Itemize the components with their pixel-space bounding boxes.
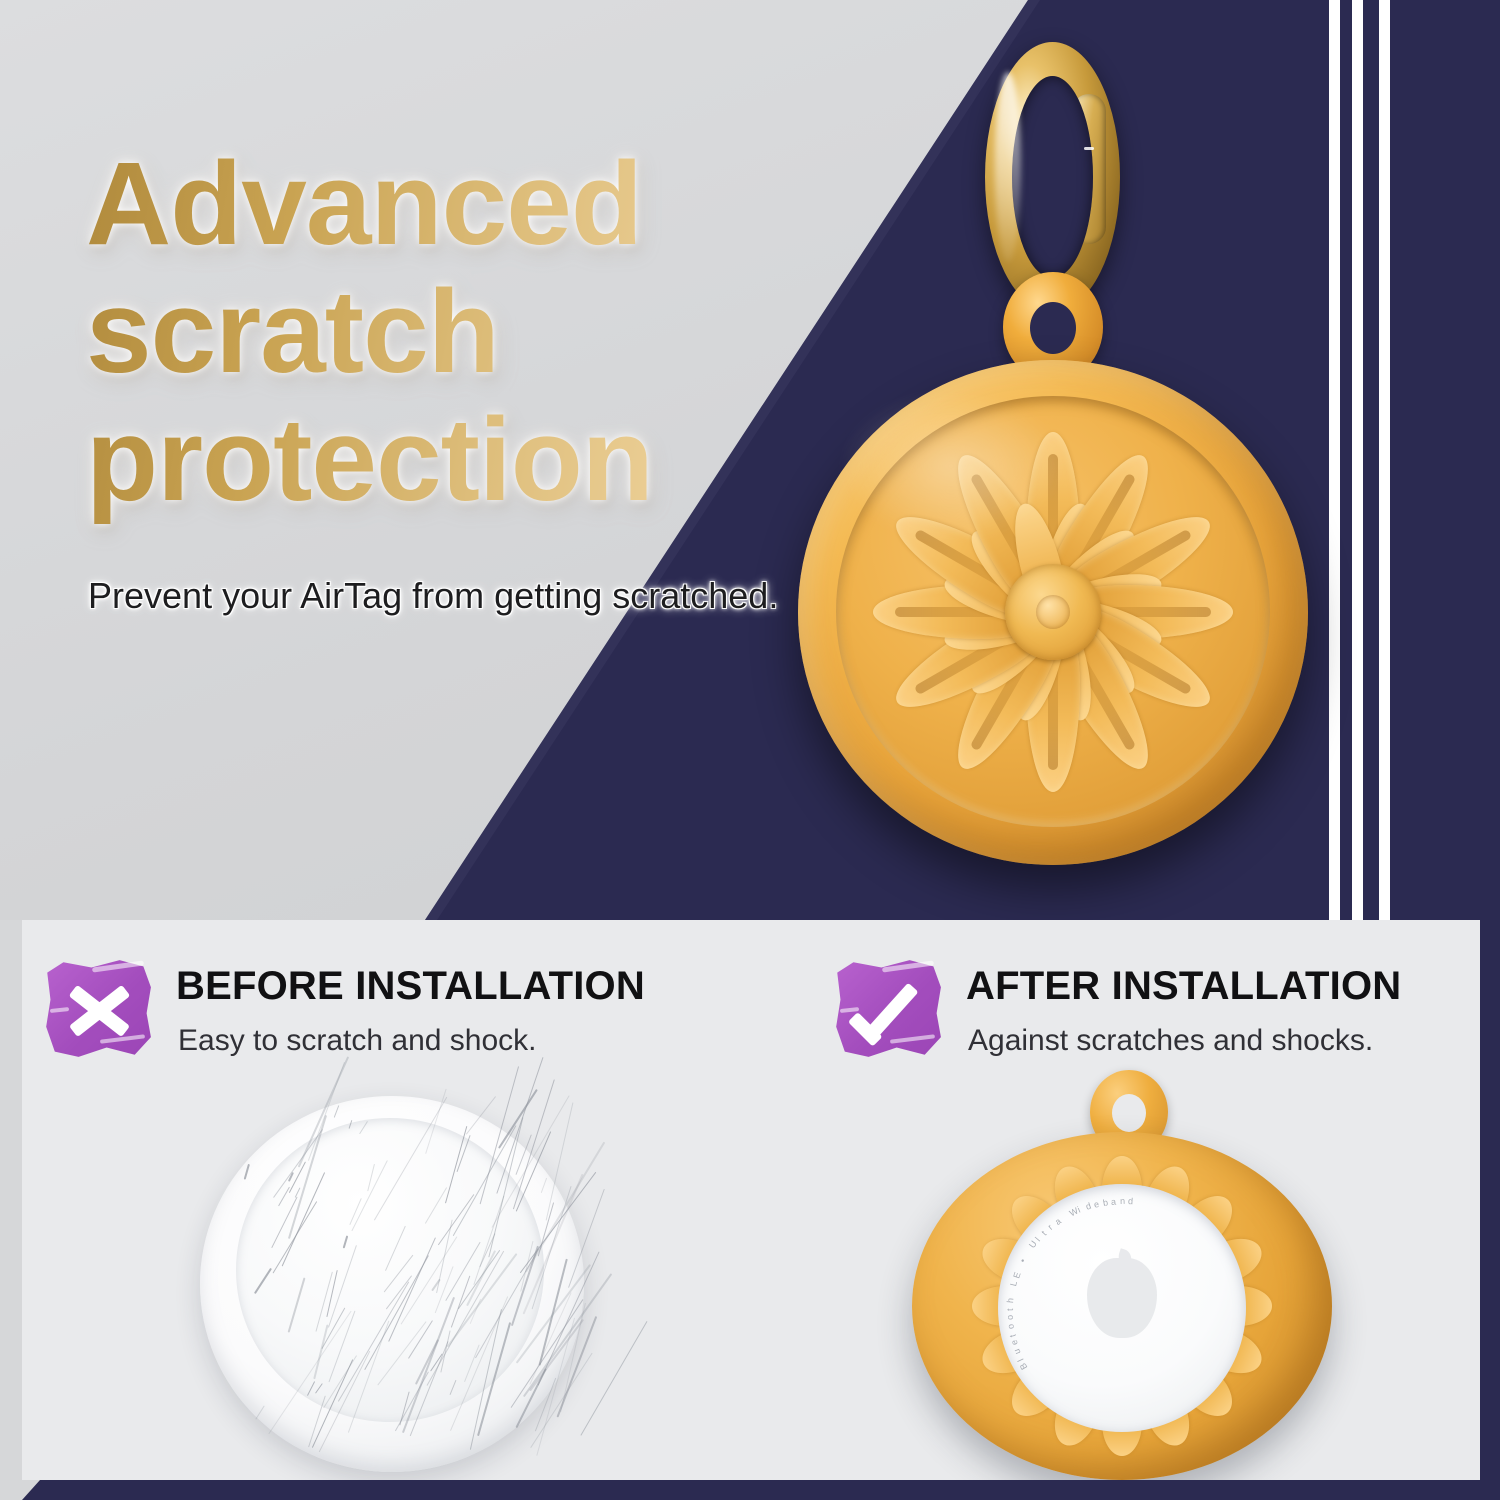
microtext-char: a bbox=[1053, 1215, 1063, 1226]
airtag-dome bbox=[236, 1118, 544, 1422]
check-glyph bbox=[834, 956, 942, 1060]
check-icon bbox=[834, 956, 942, 1060]
product-marketing-image: Advanced scratch protection Prevent your… bbox=[0, 0, 1500, 1500]
microtext-char: t bbox=[1007, 1333, 1017, 1338]
decorative-stripe-3 bbox=[1379, 0, 1390, 920]
carabiner-hole bbox=[1012, 76, 1093, 278]
microtext-char: t bbox=[1039, 1228, 1048, 1237]
bottom-navy-bar bbox=[0, 1480, 1500, 1500]
scratched-airtag-image bbox=[192, 1096, 592, 1476]
microtext-char: o bbox=[1005, 1314, 1015, 1320]
x-glyph bbox=[44, 956, 152, 1060]
flower-center-dot bbox=[1036, 595, 1070, 629]
comparison-column-after: AFTER INSTALLATION Against scratches and… bbox=[812, 920, 1500, 1480]
flower-medallion-case bbox=[798, 360, 1308, 865]
microtext-char: d bbox=[1128, 1196, 1134, 1206]
scratch-line bbox=[580, 1321, 647, 1435]
microtext-char: e bbox=[1008, 1339, 1019, 1347]
hero-section: Advanced scratch protection Prevent your… bbox=[0, 0, 1500, 920]
microtext-char: B bbox=[1017, 1361, 1029, 1372]
loop-hole bbox=[1030, 302, 1076, 354]
cross-icon bbox=[44, 956, 152, 1060]
hero-product-photo bbox=[760, 20, 1360, 900]
after-subtitle: Against scratches and shocks. bbox=[968, 1024, 1373, 1058]
flower-center-boss bbox=[1005, 564, 1101, 660]
microtext-char: d bbox=[1084, 1200, 1093, 1211]
comparison-column-before: BEFORE INSTALLATION Easy to scratch and … bbox=[22, 920, 752, 1480]
medallion-specular-highlight bbox=[839, 390, 1063, 542]
microtext-char: e bbox=[1093, 1198, 1101, 1209]
headline-line-1: Advanced bbox=[86, 140, 786, 268]
microtext-char: n bbox=[1120, 1196, 1126, 1206]
carabiner-gate-seam bbox=[1084, 147, 1094, 150]
case-body-back: Bluetooth LE • Ultra Wideband bbox=[912, 1132, 1332, 1480]
headline-line-3: protection bbox=[86, 396, 786, 524]
panel-left-margin bbox=[0, 920, 22, 1480]
headline-line-2: scratch bbox=[86, 268, 786, 396]
case-loop-hole bbox=[1112, 1094, 1146, 1132]
comparison-panel: BEFORE INSTALLATION Easy to scratch and … bbox=[22, 920, 1480, 1480]
microtext-char: h bbox=[1005, 1297, 1015, 1303]
microtext-char: b bbox=[1102, 1197, 1109, 1208]
page-title: Advanced scratch protection bbox=[86, 140, 786, 524]
airtag-in-case-image: Bluetooth LE • Ultra Wideband bbox=[912, 1070, 1332, 1480]
after-title: AFTER INSTALLATION bbox=[966, 964, 1401, 1009]
microtext-char: o bbox=[1005, 1322, 1016, 1329]
microtext-char: a bbox=[1111, 1196, 1118, 1206]
microtext-char: • bbox=[1018, 1256, 1029, 1264]
microtext-char: u bbox=[1011, 1346, 1022, 1355]
microtext-char: r bbox=[1046, 1222, 1055, 1232]
panel-right-navy-edge bbox=[1480, 920, 1500, 1480]
microtext-char: L bbox=[1008, 1279, 1019, 1287]
airtag-visible-through-case: Bluetooth LE • Ultra Wideband bbox=[998, 1184, 1246, 1432]
before-subtitle: Easy to scratch and shock. bbox=[178, 1024, 537, 1058]
hero-subtitle: Prevent your AirTag from getting scratch… bbox=[88, 574, 778, 618]
carabiner-highlight bbox=[995, 72, 1021, 262]
microtext-char: t bbox=[1005, 1308, 1015, 1311]
microtext-char: E bbox=[1011, 1270, 1023, 1279]
before-title: BEFORE INSTALLATION bbox=[176, 964, 645, 1009]
airtag-microtext: Bluetooth LE • Ultra Wideband bbox=[998, 1184, 1246, 1432]
